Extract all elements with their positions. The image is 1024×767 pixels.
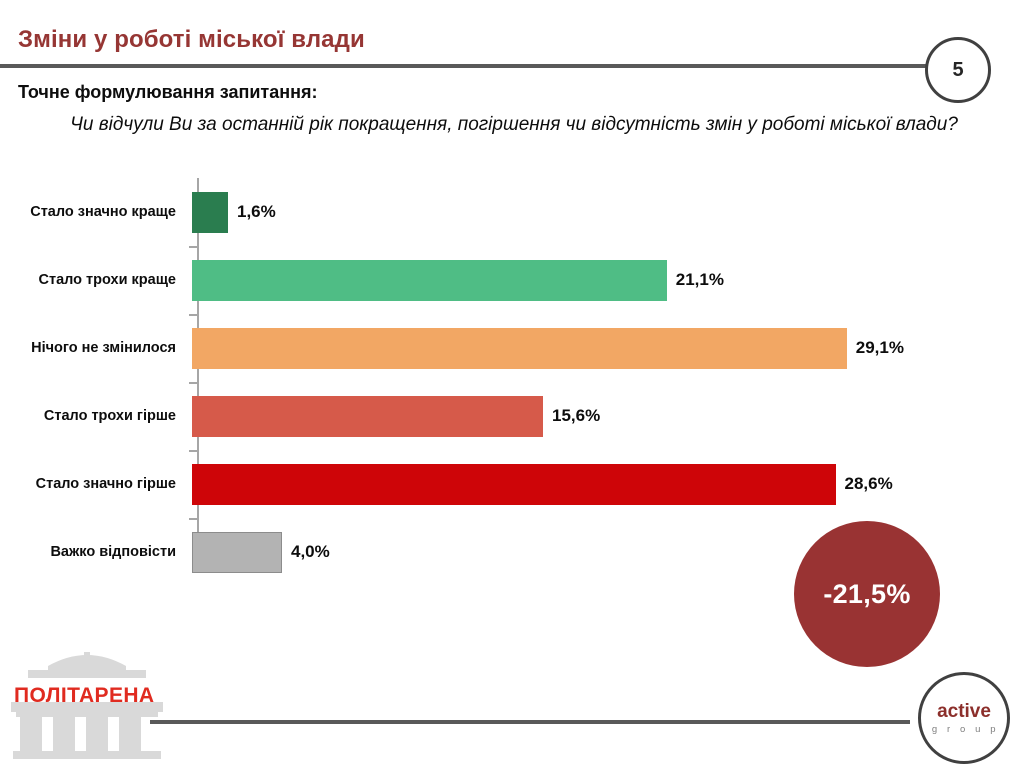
bar-value-label: 28,6% <box>845 474 893 494</box>
bar <box>192 532 282 573</box>
active-group-logo: active g r o u p <box>918 672 1010 764</box>
bar-value-label: 21,1% <box>676 270 724 290</box>
bar <box>192 192 228 233</box>
balance-highlight-badge: -21,5% <box>794 521 940 667</box>
chart-bar-row: Стало трохи гірше15,6% <box>0 382 1024 450</box>
bar-category-label: Стало трохи краще <box>0 272 190 288</box>
chart-rows: Стало значно краще1,6%Стало трохи краще2… <box>0 170 1024 578</box>
bar-category-label: Нічого не змінилося <box>0 340 190 356</box>
header-divider <box>0 64 940 68</box>
bar-container: 29,1% <box>190 314 1024 382</box>
bar <box>192 260 667 301</box>
bar-category-label: Стало значно гірше <box>0 476 190 492</box>
group-wordmark: g r o u p <box>932 724 999 735</box>
bar-chart: Стало значно краще1,6%Стало трохи краще2… <box>0 170 1024 578</box>
page-number-badge: 5 <box>925 37 991 103</box>
slide: Зміни у роботі міської влади 5 Точне фор… <box>0 0 1024 767</box>
bar-category-label: Стало значно краще <box>0 204 190 220</box>
axis-tick <box>189 246 197 248</box>
chart-bar-row: Стало значно гірше28,6% <box>0 450 1024 518</box>
bar-value-label: 1,6% <box>237 202 276 222</box>
axis-tick <box>189 314 197 316</box>
bar-category-label: Важко відповісти <box>0 544 190 560</box>
chart-bar-row: Нічого не змінилося29,1% <box>0 314 1024 382</box>
bar-value-label: 29,1% <box>856 338 904 358</box>
chart-bar-row: Стало значно краще1,6% <box>0 178 1024 246</box>
bar-value-label: 4,0% <box>291 542 330 562</box>
bar-value-label: 15,6% <box>552 406 600 426</box>
chart-bar-row: Стало трохи краще21,1% <box>0 246 1024 314</box>
axis-tick <box>189 518 197 520</box>
axis-tick <box>189 450 197 452</box>
bar-container: 15,6% <box>190 382 1024 450</box>
question-text: Чи відчули Ви за останній рік покращення… <box>14 112 1014 137</box>
axis-tick <box>189 382 197 384</box>
bar-container: 21,1% <box>190 246 1024 314</box>
politarena-wordmark: ПОЛІТАРЕНА <box>14 684 155 708</box>
bar-category-label: Стало трохи гірше <box>0 408 190 424</box>
bar <box>192 396 543 437</box>
bar <box>192 464 836 505</box>
footer-divider <box>150 720 910 724</box>
active-wordmark: active <box>937 702 991 721</box>
bar <box>192 328 847 369</box>
politarena-logo: ПОЛІТАРЕНА <box>8 648 166 760</box>
question-label: Точне формулювання запитання: <box>18 82 317 103</box>
bar-container: 28,6% <box>190 450 1024 518</box>
bar-container: 1,6% <box>190 178 1024 246</box>
page-title: Зміни у роботі міської влади <box>18 26 365 54</box>
